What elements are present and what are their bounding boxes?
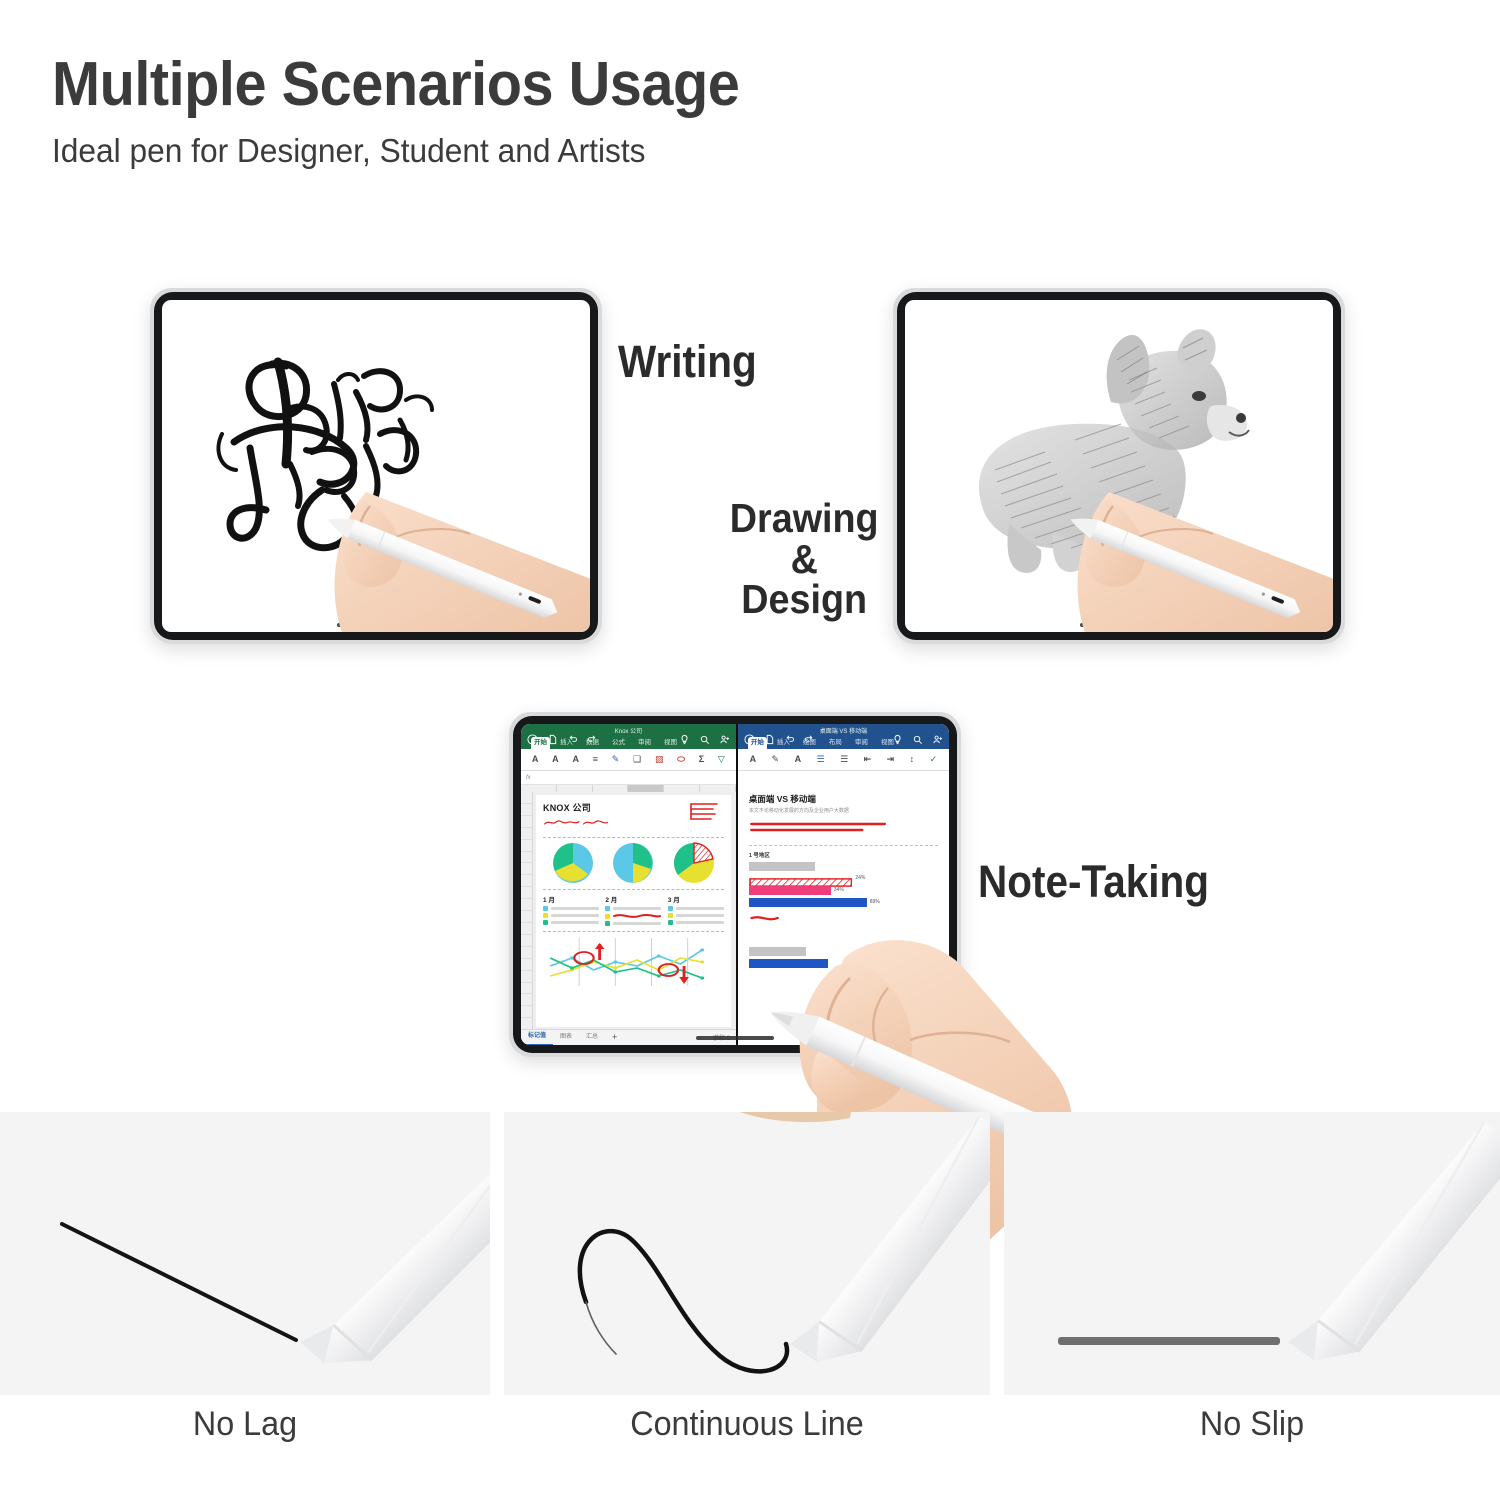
font-style-icon[interactable]: A [750, 755, 757, 764]
doc-heading: 桌面端 VS 移动端 [749, 793, 938, 805]
feature-panel-continuous-line [504, 1112, 990, 1395]
line-spacing-icon[interactable]: ↕ [910, 755, 915, 764]
red-bracket-annotation [687, 801, 721, 823]
sheet-tab-2[interactable]: 汇总 [579, 1030, 605, 1045]
highlighter-icon[interactable]: ✎ [772, 755, 780, 764]
border-icon[interactable]: ❏ [633, 755, 641, 764]
fill-color-icon[interactable]: A [552, 755, 559, 764]
tablet-note-taking: Knox 公司 开始 插入 数据 公式 审阅 [509, 712, 961, 1057]
indent-decrease-icon[interactable]: ⇤ [864, 755, 872, 764]
tablet-drawing [893, 288, 1345, 644]
document-toolbar[interactable]: A ✎ A ☰ ☰ ⇤ ⇥ ↕ ✓ [738, 749, 949, 771]
search-icon[interactable] [912, 734, 923, 745]
pie-chart-3 [673, 842, 715, 884]
document-ribbon-tabs[interactable]: 开始 插入 绘图 布局 审阅 视图 [748, 737, 897, 749]
red-underline-annotation [749, 819, 904, 835]
lightbulb-icon[interactable] [679, 734, 690, 745]
page-title: Multiple Scenarios Usage [52, 52, 1168, 117]
line-chart [543, 936, 724, 988]
sheet-tab-1[interactable]: 图表 [553, 1030, 579, 1045]
pie-chart-2 [612, 842, 654, 884]
scenario-label-drawing-line3: Design [726, 579, 882, 620]
tablet-screen-writing [162, 300, 590, 632]
add-sheet-button[interactable]: + [605, 1030, 624, 1045]
caption-no-lag: No Lag [12, 1405, 478, 1444]
hand-with-stylus [1017, 388, 1333, 632]
month-column: 2 月 [605, 894, 661, 926]
font-style-icon[interactable]: A [532, 755, 539, 764]
spreadsheet-toolbar[interactable]: A A A ≡ ✎ ❏ ▨ ⬭ Σ ▽ [521, 749, 736, 771]
spreadsheet-app-bar: Knox 公司 开始 插入 数据 公式 审阅 [521, 724, 736, 749]
eraser-icon[interactable]: ⬭ [677, 755, 685, 764]
formula-label: fx [526, 775, 531, 781]
doc-ribbon-tab-4[interactable]: 审阅 [852, 737, 871, 749]
spreadsheet-document: KNOX 公司 [536, 795, 731, 1027]
month-label: 1 月 [543, 894, 599, 904]
hand-with-stylus [274, 388, 590, 632]
font-color-icon[interactable]: A [572, 755, 579, 764]
autosum-icon[interactable]: Σ [699, 755, 704, 764]
month-legend-row: 1 月 2 月 [543, 894, 724, 926]
row-headers[interactable] [521, 792, 533, 1030]
ribbon-tab-1[interactable]: 插入 [557, 737, 576, 749]
scenario-label-drawing-line1: Drawing [726, 498, 882, 539]
numbered-list-icon[interactable]: ☰ [840, 755, 848, 764]
month-label: 2 月 [605, 894, 661, 904]
align-icon[interactable]: ≡ [593, 755, 598, 764]
font-color-icon[interactable]: A [795, 755, 802, 764]
no-lag-illustration [0, 1112, 490, 1395]
pie-chart-1 [552, 842, 594, 884]
drawn-stroke [580, 1231, 787, 1371]
header: Multiple Scenarios Usage Ideal pen for D… [52, 52, 1252, 169]
month-column: 1 月 [543, 894, 599, 926]
indent-increase-icon[interactable]: ⇥ [887, 755, 895, 764]
doc-ribbon-tab-5[interactable]: 视图 [878, 737, 897, 749]
share-user-icon[interactable] [719, 734, 730, 745]
search-icon[interactable] [699, 734, 710, 745]
ribbon-tab-4[interactable]: 审阅 [635, 737, 654, 749]
doc-ribbon-tab-1[interactable]: 插入 [774, 737, 793, 749]
pie-chart-row [543, 842, 724, 884]
share-user-icon[interactable] [932, 734, 943, 745]
ribbon-tab-5[interactable]: 视图 [661, 737, 680, 749]
ribbon-tab-0[interactable]: 开始 [531, 737, 550, 749]
red-handwriting-annotation [543, 818, 633, 827]
formula-bar[interactable]: fx [521, 771, 736, 785]
spreadsheet-pane: Knox 公司 开始 插入 数据 公式 审阅 [521, 724, 736, 1045]
doc-ribbon-tab-3[interactable]: 布局 [826, 737, 845, 749]
sheet-tab-0[interactable]: 标记值 [521, 1029, 553, 1045]
scenario-label-drawing-line2: & [726, 539, 882, 580]
drawn-stroke [62, 1224, 296, 1340]
feature-panel-no-slip [1004, 1112, 1500, 1395]
caption-continuous-line: Continuous Line [516, 1405, 978, 1444]
ink-pen-icon[interactable]: ✓ [930, 755, 938, 764]
doc-ribbon-tab-0[interactable]: 开始 [748, 737, 767, 749]
month-column: 3 月 [668, 894, 724, 926]
scenario-label-drawing: Drawing & Design [726, 498, 882, 620]
tablet-writing [150, 288, 602, 644]
no-slip-illustration [1004, 1112, 1500, 1395]
arm-overlap [700, 1112, 900, 1126]
ribbon-tab-3[interactable]: 公式 [609, 737, 628, 749]
tablet-screen-drawing [905, 300, 1333, 632]
scenario-label-writing: Writing [618, 336, 757, 388]
month-label: 3 月 [668, 894, 724, 904]
ribbon-tab-2[interactable]: 数据 [583, 737, 602, 749]
bullet-list-icon[interactable]: ☰ [817, 755, 825, 764]
caption-no-slip: No Slip [1016, 1405, 1487, 1444]
section-label: 1 号地区 [749, 851, 938, 859]
doc-ribbon-tab-2[interactable]: 绘图 [800, 737, 819, 749]
filter-icon[interactable]: ▽ [718, 755, 725, 764]
document-app-bar: 桌面端 VS 移动端 开始 插入 绘图 布局 审阅 [738, 724, 949, 749]
doc-subtext: 本文不论移动化发展的方向及企业用户大数据 [749, 808, 938, 816]
format-painter-icon[interactable]: ✎ [612, 755, 620, 764]
page-subtitle: Ideal pen for Designer, Student and Arti… [52, 133, 1204, 169]
drawn-stroke [1058, 1337, 1280, 1345]
spreadsheet-grid[interactable]: KNOX 公司 [521, 792, 736, 1030]
feature-panel-no-lag [0, 1112, 490, 1395]
clear-icon[interactable]: ▨ [655, 755, 664, 764]
spreadsheet-ribbon-tabs[interactable]: 开始 插入 数据 公式 审阅 视图 [531, 737, 680, 749]
continuous-line-illustration [504, 1112, 990, 1395]
scenario-label-note-taking: Note-Taking [978, 856, 1209, 908]
red-underline-annotation [613, 913, 661, 919]
